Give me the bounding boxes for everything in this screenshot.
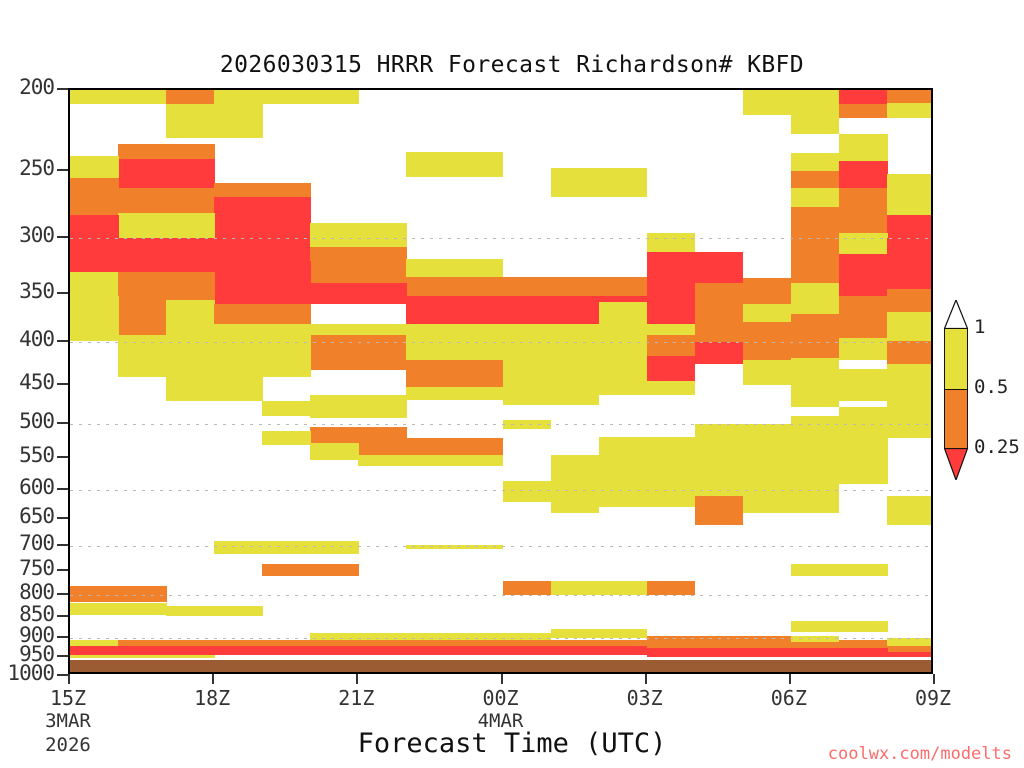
x-tick-label: 18Z: [194, 686, 230, 710]
x-tick-mark: [789, 674, 791, 684]
y-tick-mark: [57, 544, 68, 546]
watermark: coolwx.com/modelts: [828, 744, 1012, 764]
y-tick-mark: [57, 236, 68, 238]
y-tick-mark: [57, 569, 68, 571]
y-tick-label: 750: [19, 556, 54, 580]
y-tick-mark: [57, 593, 68, 595]
x-tick-mark: [68, 674, 70, 684]
gridline: [70, 238, 931, 239]
y-tick-mark: [57, 383, 68, 385]
y-tick-mark: [57, 674, 68, 676]
x-tick-mark: [212, 674, 214, 684]
y-tick-mark: [57, 488, 68, 490]
colorbar-below-arrow: [944, 448, 968, 480]
y-tick-mark: [57, 456, 68, 458]
y-tick-mark: [57, 422, 68, 424]
colorbar-label: 0.5: [974, 376, 1008, 398]
x-tick-mark: [645, 674, 647, 684]
gridline: [70, 490, 931, 491]
y-tick-label: 650: [19, 504, 54, 528]
page-title: 2026030315 HRRR Forecast Richardson# KBF…: [0, 52, 1024, 78]
colorbar-label: 1: [974, 316, 985, 338]
gridline: [70, 342, 931, 343]
colorbar-body: [944, 328, 968, 448]
y-tick-mark: [57, 517, 68, 519]
y-tick-label: 1000: [7, 661, 54, 685]
gridline: [70, 424, 931, 425]
x-tick-label: 09Z: [915, 686, 951, 710]
y-tick-label: 550: [19, 443, 54, 467]
gridlines: [70, 90, 931, 672]
y-tick-label: 800: [19, 580, 54, 604]
y-tick-label: 600: [19, 475, 54, 499]
colorbar-segment: [945, 389, 967, 449]
x-tick-label: 00Z: [482, 686, 518, 710]
gridline: [70, 638, 931, 639]
y-tick-mark: [57, 636, 68, 638]
y-tick-label: 500: [19, 409, 54, 433]
plot-area: [68, 88, 933, 674]
gridline: [70, 595, 931, 596]
y-tick-mark: [57, 340, 68, 342]
x-tick-label: 21Z: [338, 686, 374, 710]
x-tick-label: 06Z: [771, 686, 807, 710]
y-tick-label: 450: [19, 370, 54, 394]
y-tick-mark: [57, 169, 68, 171]
x-tick-mark: [356, 674, 358, 684]
y-tick-mark: [57, 655, 68, 657]
y-tick-mark: [57, 292, 68, 294]
x-tick-mark: [501, 674, 503, 684]
y-tick-label: 700: [19, 531, 54, 555]
colorbar-segment: [945, 329, 967, 389]
y-tick-label: 200: [19, 75, 54, 99]
colorbar-above-arrow: [944, 300, 968, 329]
x-tick-label: 15Z: [50, 686, 86, 710]
y-tick-label: 400: [19, 327, 54, 351]
y-tick-label: 300: [19, 223, 54, 247]
colorbar-legend: 10.50.25: [944, 300, 1020, 480]
y-tick-label: 250: [19, 156, 54, 180]
y-axis: 2002503003504004505005506006507007508008…: [0, 88, 68, 674]
y-tick-mark: [57, 615, 68, 617]
x-tick-label: 03Z: [627, 686, 663, 710]
colorbar-divider: [945, 389, 967, 390]
gridline: [70, 546, 931, 547]
x-tick-mark: [933, 674, 935, 684]
terrain-surface: [70, 658, 931, 674]
y-tick-label: 350: [19, 279, 54, 303]
colorbar-label: 0.25: [974, 436, 1020, 458]
y-tick-mark: [57, 88, 68, 90]
